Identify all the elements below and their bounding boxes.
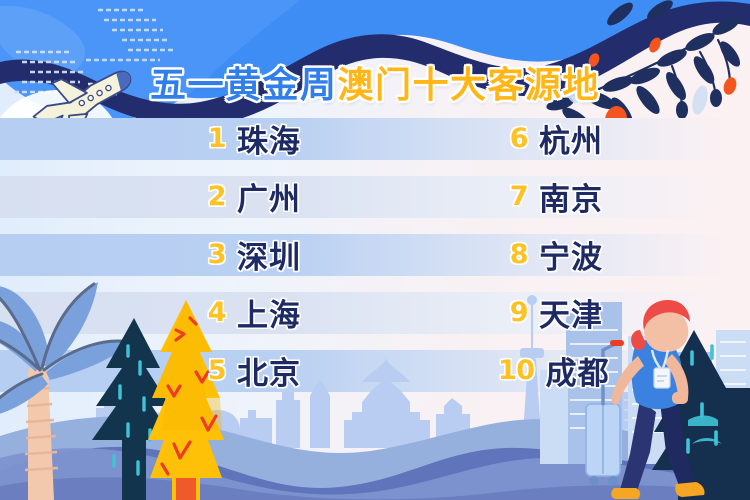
title-gold-part: 澳门十大客源地 (338, 56, 601, 108)
city-name: 天津 (539, 290, 603, 335)
city-name: 杭州 (539, 116, 603, 161)
city-name: 广州 (237, 174, 301, 219)
rank-number: 4 (196, 297, 226, 328)
rank-number: 8 (498, 239, 528, 270)
rank-number: 7 (498, 181, 528, 212)
lotus-lattice (556, 402, 608, 448)
city-name: 珠海 (237, 116, 301, 161)
infographic-poster: 五一黄金周澳门十大客源地 1 珠海 6 杭州 2 广州 7 南京 (0, 0, 750, 500)
ranking-row: 1 珠海 6 杭州 (0, 110, 750, 166)
rank-number: 10 (498, 355, 535, 386)
city-name: 成都 (546, 348, 610, 393)
hill-waves (0, 416, 750, 500)
list-item[interactable]: 4 上海 (0, 284, 448, 340)
list-item[interactable]: 9 天津 (448, 284, 750, 340)
rank-number: 2 (196, 181, 226, 212)
rank-number: 6 (498, 123, 528, 154)
city-name: 宁波 (539, 232, 603, 277)
city-name: 深圳 (237, 232, 301, 277)
rank-number: 5 (196, 355, 226, 386)
title-blue-part: 五一黄金周 (150, 56, 338, 108)
rank-number: 1 (196, 123, 226, 154)
city-name: 北京 (237, 348, 301, 393)
list-item[interactable]: 7 南京 (448, 168, 750, 224)
list-item[interactable]: 6 杭州 (448, 110, 750, 166)
ranking-list: 1 珠海 6 杭州 2 广州 7 南京 3 深圳 8 (0, 110, 750, 400)
list-item[interactable]: 10 成都 (448, 342, 750, 398)
list-item[interactable]: 1 珠海 (0, 110, 448, 166)
ranking-row: 5 北京 10 成都 (0, 342, 750, 398)
tree-face (688, 416, 722, 445)
list-item[interactable]: 8 宁波 (448, 226, 750, 282)
rank-number: 3 (196, 239, 226, 270)
poster-title: 五一黄金周澳门十大客源地 (0, 56, 750, 108)
list-item[interactable]: 2 广州 (0, 168, 448, 224)
ranking-row: 2 广州 7 南京 (0, 168, 750, 224)
list-item[interactable]: 5 北京 (0, 342, 448, 398)
dashed-lines-decoration (86, 10, 176, 60)
list-item[interactable]: 3 深圳 (0, 226, 448, 282)
ranking-row: 3 深圳 8 宁波 (0, 226, 750, 282)
city-name: 上海 (237, 290, 301, 335)
rank-number: 9 (498, 297, 528, 328)
city-name: 南京 (539, 174, 603, 219)
ranking-row: 4 上海 9 天津 (0, 284, 750, 340)
